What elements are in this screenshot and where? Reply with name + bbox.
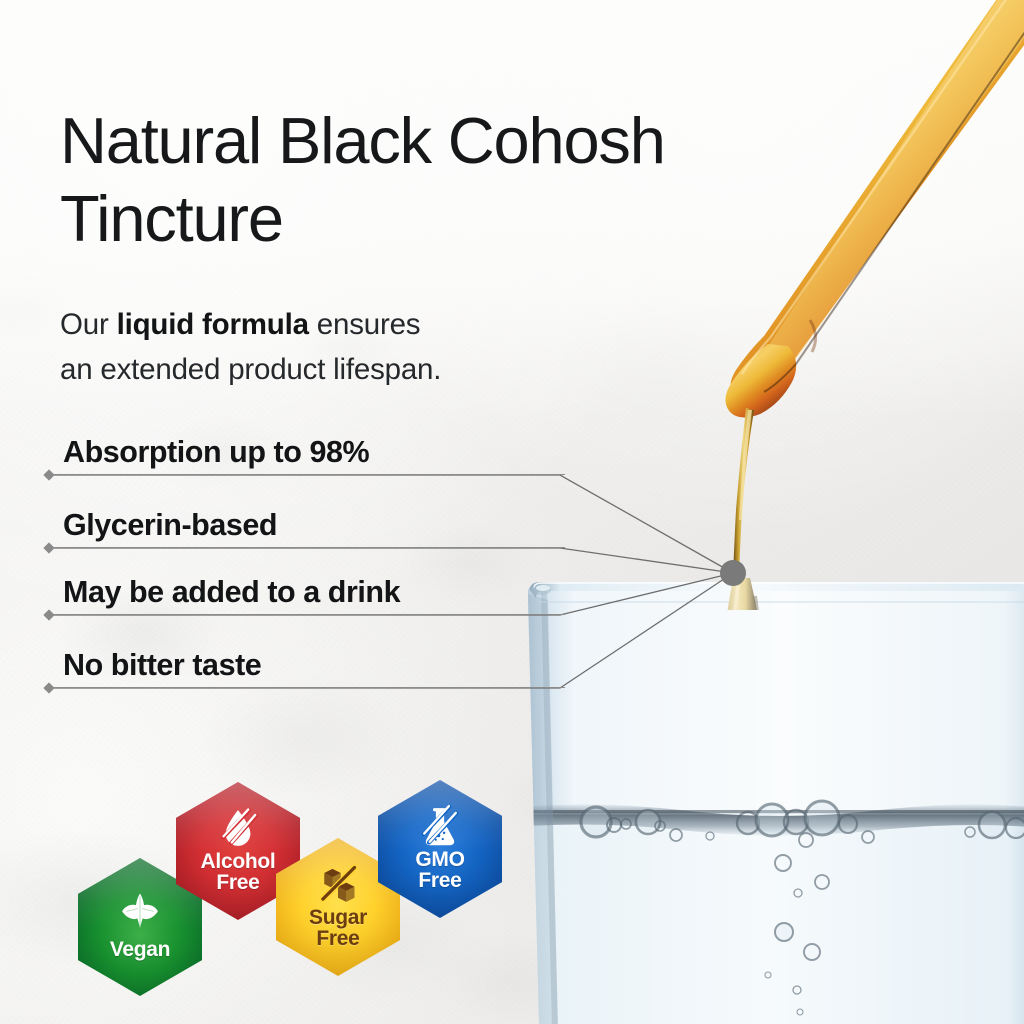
badge-label-line1: Sugar [309, 908, 367, 929]
infographic-canvas: Natural Black Cohosh Tincture Our liquid… [0, 0, 1024, 1024]
page-subtitle: Our liquid formula ensures an extended p… [60, 302, 620, 392]
badge-label-line1: GMO [415, 850, 464, 871]
badge-label: GMO Free [415, 850, 464, 891]
feature-rule [53, 474, 565, 475]
feature-label: No bitter taste [63, 648, 261, 682]
badge-label-line2: Free [201, 873, 276, 894]
badge-gmo-free: GMO Free [378, 780, 502, 918]
feature-label: May be added to a drink [63, 575, 400, 609]
badge-label-line2: Free [415, 871, 464, 892]
subtitle-before: Our [60, 308, 117, 341]
sugar-cubes-slash-icon [316, 862, 360, 906]
feature-rule [53, 547, 565, 548]
badge-label-line2: Free [309, 929, 367, 950]
leaf-icon [118, 888, 162, 932]
badge-label: Sugar Free [309, 908, 367, 949]
feature-label: Absorption up to 98% [63, 435, 369, 469]
callout-convergence-dot [720, 560, 746, 586]
feature-label: Glycerin-based [63, 508, 277, 542]
subtitle-emphasis: liquid formula [117, 308, 309, 341]
certification-badges: Vegan [60, 762, 540, 992]
badge-label-line1: Vegan [110, 940, 170, 961]
page-title: Natural Black Cohosh Tincture [60, 102, 890, 258]
badge-label: Vegan [110, 940, 170, 961]
badge-label-line1: Alcohol [201, 852, 276, 873]
feature-rule [53, 614, 565, 615]
flask-slash-icon [418, 804, 462, 848]
badge-label: Alcohol Free [201, 852, 276, 893]
feature-rule [53, 687, 565, 688]
water-drop-slash-icon [216, 806, 260, 850]
